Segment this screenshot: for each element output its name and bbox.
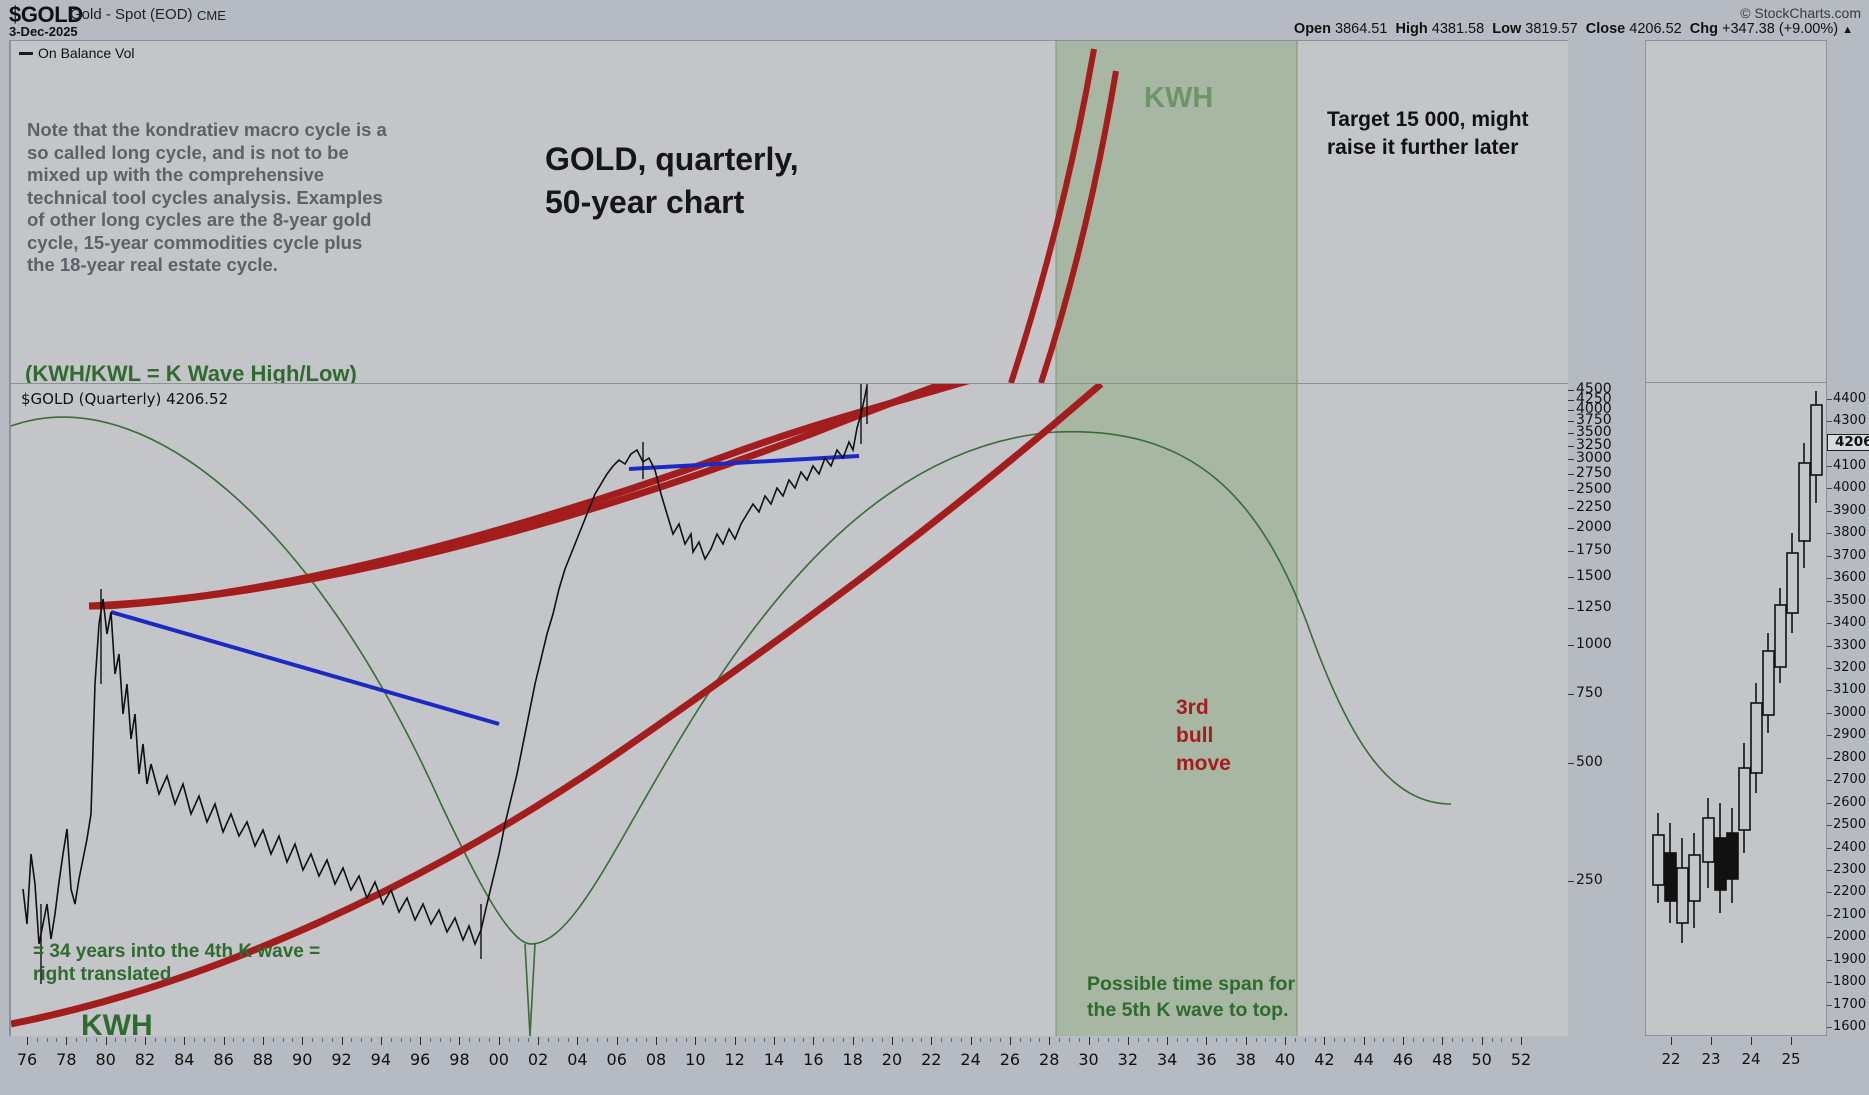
y-axis-tick-mark	[1568, 410, 1574, 411]
x-axis-minor-tick	[1020, 1038, 1021, 1042]
x-axis-tick-label: 22	[921, 1050, 941, 1069]
x-axis-minor-tick	[1472, 1038, 1473, 1042]
time-span-band-top	[1056, 41, 1297, 383]
x-axis-minor-tick	[1374, 1038, 1375, 1042]
x-axis-tick-mark	[892, 1037, 893, 1045]
x-axis-tick-label: 50	[1471, 1050, 1491, 1069]
y-axis-tick-mark	[1568, 474, 1574, 475]
mini-y-axis-tick-label: 3800	[1833, 525, 1866, 540]
x-axis-minor-tick	[1059, 1038, 1060, 1042]
x-axis-minor-tick	[1462, 1038, 1463, 1042]
x-axis-tick-mark	[971, 1037, 972, 1045]
x-axis-minor-tick	[754, 1038, 755, 1042]
x-axis-tick-label: 42	[1314, 1050, 1334, 1069]
x-axis-minor-tick	[1148, 1038, 1149, 1042]
x-axis-tick-label: 02	[528, 1050, 548, 1069]
annotation-right-translated: = 34 years into the 4th K wave = right t…	[33, 940, 323, 986]
x-axis-tick-mark	[420, 1037, 421, 1045]
mini-y-axis-tick-mark	[1827, 892, 1832, 893]
x-axis-minor-tick	[558, 1038, 559, 1042]
x-axis-tick-label: 90	[292, 1050, 312, 1069]
x-axis-tick-mark	[1364, 1037, 1365, 1045]
mini-y-axis-tick-label: 3200	[1833, 660, 1866, 675]
x-axis-minor-tick	[1108, 1038, 1109, 1042]
x-axis-tick-mark	[735, 1037, 736, 1045]
x-axis-minor-tick	[479, 1038, 480, 1042]
x-axis-minor-tick	[1492, 1038, 1493, 1042]
x-axis-minor-tick	[1226, 1038, 1227, 1042]
x-axis-tick-label: 40	[1275, 1050, 1295, 1069]
y-axis-tick-mark	[1568, 645, 1574, 646]
x-axis-tick-mark	[656, 1037, 657, 1045]
x-axis-minor-tick	[1157, 1038, 1158, 1042]
x-axis-minor-tick	[489, 1038, 490, 1042]
x-axis-minor-tick	[86, 1038, 87, 1042]
x-axis-minor-tick	[921, 1038, 922, 1042]
x-axis-minor-tick	[273, 1038, 274, 1042]
y-axis-tick-mark	[1568, 400, 1574, 401]
open-value: 3864.51	[1335, 21, 1387, 37]
x-axis-minor-tick	[980, 1038, 981, 1042]
x-axis-minor-tick	[1334, 1038, 1335, 1042]
x-axis-minor-tick	[312, 1038, 313, 1042]
price-legend: $GOLD (Quarterly) 4206.52	[21, 390, 228, 408]
mini-y-axis-tick-mark	[1827, 511, 1832, 512]
stockcharts-window: $GOLD Gold - Spot (EOD) CME 3-Dec-2025 ©…	[0, 0, 1869, 1095]
x-axis-minor-tick	[1511, 1038, 1512, 1042]
x-axis-tick-label: 28	[1039, 1050, 1059, 1069]
x-axis-minor-tick	[76, 1038, 77, 1042]
x-axis-minor-tick	[194, 1038, 195, 1042]
mini-y-axis-tick-mark	[1827, 1005, 1832, 1006]
mini-y-axis-tick-label: 1800	[1833, 974, 1866, 989]
x-axis-tick-mark	[931, 1037, 932, 1045]
mini-y-axis-tick-mark	[1827, 556, 1832, 557]
x-axis-tick-label: 38	[1236, 1050, 1256, 1069]
mini-x-axis-tick-mark	[1711, 1037, 1712, 1045]
x-axis-tick-mark	[1324, 1037, 1325, 1045]
mini-y-axis: 4400430041004000390038003700360035003400…	[1827, 383, 1869, 1036]
symbol-description: Gold - Spot (EOD)	[70, 6, 193, 23]
x-axis-tick-label: 14	[764, 1050, 784, 1069]
mini-y-axis-tick-label: 2200	[1833, 884, 1866, 899]
x-axis-tick-mark	[381, 1037, 382, 1045]
x-axis-tick-label: 12	[724, 1050, 744, 1069]
x-axis-tick-label: 08	[646, 1050, 666, 1069]
mini-x-axis-tick-mark	[1671, 1037, 1672, 1045]
y-axis-tick-label: 2750	[1576, 465, 1612, 481]
x-axis-minor-tick	[440, 1038, 441, 1042]
x-axis-minor-tick	[990, 1038, 991, 1042]
y-axis-tick-mark	[1568, 763, 1574, 764]
x-axis-tick-label: 26	[1000, 1050, 1020, 1069]
x-axis-tick-mark	[1206, 1037, 1207, 1045]
mini-y-axis-tick-mark	[1827, 466, 1832, 467]
x-axis-minor-tick	[1413, 1038, 1414, 1042]
x-axis-tick-mark	[66, 1037, 67, 1045]
x-axis-minor-tick	[686, 1038, 687, 1042]
mini-x-axis-tick-mark	[1791, 1037, 1792, 1045]
mini-y-axis-tick-mark	[1827, 825, 1832, 826]
x-axis-minor-tick	[528, 1038, 529, 1042]
x-axis-minor-tick	[165, 1038, 166, 1042]
x-axis-minor-tick	[548, 1038, 549, 1042]
low-label: Low	[1492, 21, 1521, 37]
x-axis-tick-mark	[342, 1037, 343, 1045]
x-axis-minor-tick	[833, 1038, 834, 1042]
y-axis-tick-label: 750	[1576, 685, 1603, 701]
mini-y-axis-tick-label: 2800	[1833, 750, 1866, 765]
mini-y-axis-tick-mark	[1827, 780, 1832, 781]
x-axis-tick-mark	[1049, 1037, 1050, 1045]
mini-y-axis-tick-label: 1900	[1833, 952, 1866, 967]
mini-x-axis-tick-label: 25	[1781, 1050, 1800, 1068]
y-axis-tick-label: 1250	[1576, 599, 1612, 615]
y-axis-tick-mark	[1568, 459, 1574, 460]
x-axis-minor-tick	[715, 1038, 716, 1042]
mini-y-axis-tick-mark	[1827, 758, 1832, 759]
y-axis-tick-label: 2500	[1576, 481, 1612, 497]
x-axis-tick-mark	[695, 1037, 696, 1045]
x-axis-minor-tick	[135, 1038, 136, 1042]
x-axis-minor-tick	[1305, 1038, 1306, 1042]
x-axis-minor-tick	[794, 1038, 795, 1042]
x-axis-minor-tick	[214, 1038, 215, 1042]
x-axis-minor-tick	[725, 1038, 726, 1042]
y-axis-tick-label: 1750	[1576, 542, 1612, 558]
mini-y-axis-tick-label: 2500	[1833, 817, 1866, 832]
x-axis-minor-tick	[1039, 1038, 1040, 1042]
annotation-kwh: KWH	[81, 1009, 153, 1036]
y-axis-tick-mark	[1568, 490, 1574, 491]
y-axis-tick-label: 250	[1576, 872, 1603, 888]
symbol-exchange: CME	[197, 8, 226, 23]
x-axis-tick-mark	[224, 1037, 225, 1045]
mini-y-axis-tick-label: 2900	[1833, 727, 1866, 742]
mini-y-axis-tick-mark	[1827, 982, 1832, 983]
x-axis-tick-mark	[1482, 1037, 1483, 1045]
x-axis-tick-label: 16	[803, 1050, 823, 1069]
x-axis-minor-tick	[322, 1038, 323, 1042]
x-axis-minor-tick	[784, 1038, 785, 1042]
mini-y-axis-tick-mark	[1827, 421, 1832, 422]
mini-y-axis-tick-label: 2300	[1833, 862, 1866, 877]
stockcharts-credit: © StockCharts.com	[1740, 5, 1861, 21]
x-axis-tick-label: 32	[1118, 1050, 1138, 1069]
y-axis-tick-label: 1000	[1576, 636, 1612, 652]
x-axis-minor-tick	[1216, 1038, 1217, 1042]
mini-y-axis-tick-mark	[1827, 937, 1832, 938]
mini-x-axis-tick-label: 22	[1661, 1050, 1680, 1068]
mini-y-axis-tick-mark	[1827, 646, 1832, 647]
mini-y-axis-tick-mark	[1827, 399, 1832, 400]
quote-date: 3-Dec-2025	[9, 24, 78, 39]
mini-y-axis-tick-mark	[1827, 960, 1832, 961]
close-value: 4206.52	[1629, 21, 1681, 37]
x-axis-minor-tick	[1030, 1038, 1031, 1042]
annotation-time-span: Possible time span for the 5th K wave to…	[1087, 972, 1302, 1036]
mini-y-axis-tick-label: 3300	[1833, 638, 1866, 653]
x-axis-tick-mark	[1442, 1037, 1443, 1045]
mini-y-axis-tick-label: 4100	[1833, 458, 1866, 473]
x-axis-minor-tick	[1079, 1038, 1080, 1042]
x-axis-minor-tick	[469, 1038, 470, 1042]
mini-y-axis-tick-label: 2600	[1833, 795, 1866, 810]
x-axis-tick-mark	[106, 1037, 107, 1045]
y-axis-tick-label: 3000	[1576, 450, 1612, 466]
mini-y-axis-tick-label: 4300	[1833, 413, 1866, 428]
x-axis-tick-mark	[1010, 1037, 1011, 1045]
y-axis-tick-label: 2000	[1576, 519, 1612, 535]
mini-y-axis-tick-mark	[1827, 690, 1832, 691]
x-axis-minor-tick	[636, 1038, 637, 1042]
up-triangle-icon: ▲	[1842, 24, 1853, 36]
red-channel-upper-extend	[89, 384, 1071, 606]
x-axis-tick-label: 36	[1196, 1050, 1216, 1069]
x-axis-minor-tick	[1354, 1038, 1355, 1042]
x-axis-minor-tick	[823, 1038, 824, 1042]
x-axis-minor-tick	[1383, 1038, 1384, 1042]
x-axis-minor-tick	[351, 1038, 352, 1042]
x-axis-minor-tick	[283, 1038, 284, 1042]
x-axis-tick-label: 98	[449, 1050, 469, 1069]
x-axis-minor-tick	[332, 1038, 333, 1042]
mini-y-axis-tick-label: 1600	[1833, 1019, 1866, 1034]
x-axis-tick-mark	[617, 1037, 618, 1045]
price-chart-canvas	[11, 384, 1568, 1036]
change-label: Chg	[1690, 21, 1718, 37]
mini-y-axis-tick-mark	[1827, 668, 1832, 669]
y-axis-tick-mark	[1568, 694, 1574, 695]
y-axis-tick-mark	[1568, 881, 1574, 882]
x-axis-tick-label: 96	[410, 1050, 430, 1069]
high-label: High	[1396, 21, 1428, 37]
x-axis-minor-tick	[941, 1038, 942, 1042]
x-axis-minor-tick	[37, 1038, 38, 1042]
x-axis-tick-label: 48	[1432, 1050, 1452, 1069]
x-axis-tick-label: 78	[56, 1050, 76, 1069]
ohlc-quote-bar: Open 3864.51 High 4381.58 Low 3819.57 Cl…	[1294, 21, 1853, 37]
x-axis-tick-mark	[1167, 1037, 1168, 1045]
x-axis-minor-tick	[47, 1038, 48, 1042]
mini-indicator-pane	[1645, 40, 1827, 383]
mini-x-axis-tick-label: 23	[1701, 1050, 1720, 1068]
x-axis-tick-mark	[263, 1037, 264, 1045]
mini-y-axis-tick-mark	[1827, 578, 1832, 579]
mini-y-axis-tick-mark	[1827, 870, 1832, 871]
x-axis-tick-mark	[145, 1037, 146, 1045]
x-axis-minor-tick	[1344, 1038, 1345, 1042]
x-axis-minor-tick	[1423, 1038, 1424, 1042]
x-axis-minor-tick	[1138, 1038, 1139, 1042]
x-axis-minor-tick	[627, 1038, 628, 1042]
x-axis-minor-tick	[243, 1038, 244, 1042]
x-axis-minor-tick	[676, 1038, 677, 1042]
mini-candles	[1646, 383, 1826, 1034]
mini-y-axis-tick-label: 4000	[1833, 480, 1866, 495]
x-axis-tick-mark	[774, 1037, 775, 1045]
x-axis-minor-tick	[745, 1038, 746, 1042]
x-axis-minor-tick	[1452, 1038, 1453, 1042]
x-axis-minor-tick	[607, 1038, 608, 1042]
x-axis-tick-label: 18	[842, 1050, 862, 1069]
x-axis-minor-tick	[803, 1038, 804, 1042]
x-axis-minor-tick	[1275, 1038, 1276, 1042]
x-axis-tick-label: 94	[371, 1050, 391, 1069]
mini-y-axis-tick-mark	[1827, 623, 1832, 624]
x-axis-tick-mark	[577, 1037, 578, 1045]
x-axis-minor-tick	[1501, 1038, 1502, 1042]
x-axis-tick-label: 06	[607, 1050, 627, 1069]
mini-y-axis-tick-label: 4400	[1833, 391, 1866, 406]
x-axis-minor-tick	[1118, 1038, 1119, 1042]
mini-x-axis-tick-label: 24	[1741, 1050, 1760, 1068]
x-axis-minor-tick	[1197, 1038, 1198, 1042]
y-axis-tick-mark	[1568, 577, 1574, 578]
y-axis-tick-mark	[1568, 390, 1574, 391]
x-axis-minor-tick	[204, 1038, 205, 1042]
price-pane: $GOLD (Quarterly) 4206.52 = 34 years int…	[9, 383, 1568, 1036]
x-axis-tick-label: 20	[882, 1050, 902, 1069]
x-axis-minor-tick	[518, 1038, 519, 1042]
x-axis-minor-tick	[509, 1038, 510, 1042]
high-value: 4381.58	[1432, 21, 1484, 37]
y-axis-tick-mark	[1568, 551, 1574, 552]
x-axis-tick-label: 76	[17, 1050, 37, 1069]
mini-y-axis-tick-label: 2700	[1833, 772, 1866, 787]
mini-y-axis-tick-mark	[1827, 803, 1832, 804]
x-axis-tick-mark	[184, 1037, 185, 1045]
x-axis-tick-mark	[1403, 1037, 1404, 1045]
x-axis-minor-tick	[1433, 1038, 1434, 1042]
x-axis-minor-tick	[292, 1038, 293, 1042]
x-axis-minor-tick	[430, 1038, 431, 1042]
x-axis-minor-tick	[56, 1038, 57, 1042]
x-axis-tick-mark	[538, 1037, 539, 1045]
x-axis-minor-tick	[1265, 1038, 1266, 1042]
x-axis-tick-mark	[499, 1037, 500, 1045]
x-axis-tick-mark	[1521, 1037, 1522, 1045]
open-label: Open	[1294, 21, 1331, 37]
x-axis-minor-tick	[1315, 1038, 1316, 1042]
mini-y-axis-tick-mark	[1827, 601, 1832, 602]
close-label: Close	[1586, 21, 1626, 37]
x-axis-minor-tick	[843, 1038, 844, 1042]
y-axis-tick-mark	[1568, 446, 1574, 447]
x-axis-tick-label: 10	[685, 1050, 705, 1069]
x-axis-tick-label: 34	[1157, 1050, 1177, 1069]
price-x-axis: 7678808284868890929496980002040608101214…	[9, 1036, 1568, 1095]
x-axis-tick-label: 30	[1078, 1050, 1098, 1069]
x-axis-minor-tick	[587, 1038, 588, 1042]
x-axis-minor-tick	[391, 1038, 392, 1042]
x-axis-minor-tick	[597, 1038, 598, 1042]
x-axis-tick-mark	[813, 1037, 814, 1045]
low-value: 3819.57	[1525, 21, 1577, 37]
x-axis-tick-mark	[1246, 1037, 1247, 1045]
x-axis-minor-tick	[1098, 1038, 1099, 1042]
y-axis-tick-label: 2250	[1576, 499, 1612, 515]
x-axis-minor-tick	[1295, 1038, 1296, 1042]
x-axis-minor-tick	[764, 1038, 765, 1042]
x-axis-minor-tick	[410, 1038, 411, 1042]
mini-y-axis-tick-mark	[1827, 713, 1832, 714]
x-axis-minor-tick	[361, 1038, 362, 1042]
x-axis-minor-tick	[872, 1038, 873, 1042]
x-axis-minor-tick	[951, 1038, 952, 1042]
x-axis-tick-label: 46	[1393, 1050, 1413, 1069]
mini-y-axis-tick-label: 3500	[1833, 593, 1866, 608]
change-value: +347.38 (+9.00%)	[1722, 21, 1838, 37]
x-axis-minor-tick	[862, 1038, 863, 1042]
x-axis-minor-tick	[401, 1038, 402, 1042]
x-axis-tick-label: 82	[135, 1050, 155, 1069]
mini-y-axis-tick-label: 2000	[1833, 929, 1866, 944]
x-axis-tick-label: 00	[489, 1050, 509, 1069]
x-axis-minor-tick	[912, 1038, 913, 1042]
mini-price-pane	[1645, 383, 1827, 1036]
y-axis-tick-label: 1500	[1576, 568, 1612, 584]
x-axis-minor-tick	[1393, 1038, 1394, 1042]
x-axis-tick-mark	[459, 1037, 460, 1045]
y-axis-tick-mark	[1568, 528, 1574, 529]
x-axis-minor-tick	[961, 1038, 962, 1042]
x-axis-minor-tick	[450, 1038, 451, 1042]
y-axis-tick-mark	[1568, 433, 1574, 434]
x-axis-tick-mark	[302, 1037, 303, 1045]
mini-y-axis-tick-label: 3900	[1833, 503, 1866, 518]
x-axis-tick-mark	[1089, 1037, 1090, 1045]
x-axis-minor-tick	[1069, 1038, 1070, 1042]
x-axis-tick-label: 92	[331, 1050, 351, 1069]
x-axis-tick-label: 80	[95, 1050, 115, 1069]
mini-y-axis-tick-label: 3600	[1833, 570, 1866, 585]
mini-y-axis-tick-label: 1700	[1833, 997, 1866, 1012]
x-axis-tick-mark	[1285, 1037, 1286, 1045]
y-axis-tick-mark	[1568, 508, 1574, 509]
current-price-tag: 4206.52	[1827, 434, 1869, 451]
mini-y-axis-tick-mark	[1827, 1027, 1832, 1028]
x-axis-tick-label: 84	[174, 1050, 194, 1069]
annotation-third-bull-move: 3rd bull move	[1176, 694, 1231, 778]
y-axis-tick-label: 500	[1576, 754, 1603, 770]
mini-y-axis-tick-label: 3400	[1833, 615, 1866, 630]
x-axis-minor-tick	[155, 1038, 156, 1042]
x-axis-tick-mark	[1128, 1037, 1129, 1045]
x-axis-minor-tick	[1000, 1038, 1001, 1042]
mini-y-axis-tick-mark	[1827, 533, 1832, 534]
mini-candle-group	[1653, 391, 1822, 943]
x-axis-tick-label: 86	[213, 1050, 233, 1069]
mini-y-axis-tick-label: 2100	[1833, 907, 1866, 922]
x-axis-tick-label: 88	[253, 1050, 273, 1069]
x-axis-minor-tick	[1256, 1038, 1257, 1042]
x-axis-minor-tick	[568, 1038, 569, 1042]
x-axis-tick-label: 52	[1511, 1050, 1531, 1069]
blue-trendline-left	[111, 612, 499, 724]
x-axis-tick-label: 24	[960, 1050, 980, 1069]
x-axis-minor-tick	[1236, 1038, 1237, 1042]
price-bars	[41, 384, 867, 984]
x-axis-minor-tick	[882, 1038, 883, 1042]
mini-x-axis: 22232425	[1645, 1036, 1827, 1095]
x-axis-minor-tick	[646, 1038, 647, 1042]
x-axis-minor-tick	[1187, 1038, 1188, 1042]
x-axis-minor-tick	[233, 1038, 234, 1042]
red-channel-lower	[11, 384, 1101, 1024]
mini-y-axis-tick-mark	[1827, 848, 1832, 849]
x-axis-minor-tick	[705, 1038, 706, 1042]
